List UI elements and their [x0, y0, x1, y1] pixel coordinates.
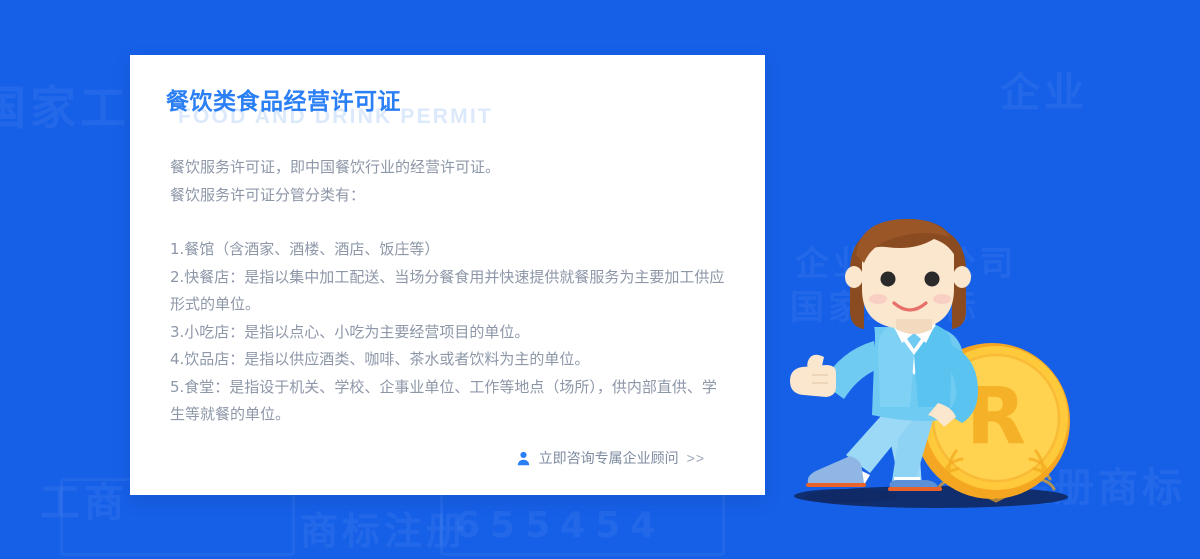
intro-line-1: 餐饮服务许可证，即中国餐饮行业的经营许可证。 [170, 154, 730, 182]
page-title: 餐饮类食品经营许可证 [166, 88, 765, 116]
watermark-text: 企业 [1000, 60, 1088, 118]
card-body: 餐饮服务许可证，即中国餐饮行业的经营许可证。 餐饮服务许可证分管分类有： 1.餐… [170, 154, 730, 429]
head [845, 219, 971, 334]
list-item: 3.小吃店：是指以点心、小吃为主要经营项目的单位。 [170, 319, 730, 347]
consult-label: 立即咨询专属企业顾问 [539, 448, 679, 468]
permit-category-list: 1.餐馆（含酒家、酒楼、酒店、饭庄等） 2.快餐店：是指以集中加工配送、当场分餐… [170, 236, 730, 429]
consult-advisor-link[interactable]: 立即咨询专属企业顾问 >> [516, 448, 705, 468]
list-item: 1.餐馆（含酒家、酒楼、酒店、饭庄等） [170, 236, 730, 264]
card-header: 餐饮类食品经营许可证 FOOD AND DRINK PERMIT [166, 88, 765, 134]
list-item: 4.饮品店：是指以供应酒类、咖啡、茶水或者饮料为主的单位。 [170, 346, 730, 374]
watermark-text: 655454 [455, 505, 665, 546]
user-icon [516, 451, 531, 466]
content-card: 餐饮类食品经营许可证 FOOD AND DRINK PERMIT 餐饮服务许可证… [130, 55, 765, 495]
chevron-right-icon: >> [687, 450, 705, 466]
shoe-back [888, 477, 942, 491]
thumbs-up-hand [790, 355, 836, 397]
watermark-text: 商标注册 [300, 500, 468, 555]
watermark-text: 工商 [40, 470, 128, 528]
list-item: 5.食堂：是指设于机关、学校、企事业单位、工作等地点（场所），供内部直供、学生等… [170, 374, 730, 429]
watermark-box [440, 492, 725, 556]
paragraph-spacer [170, 209, 730, 236]
list-item: 2.快餐店：是指以集中加工配送、当场分餐食用并快速提供就餐服务为主要加工供应形式… [170, 264, 730, 319]
illustration-businesswoman-coin: R [786, 215, 1076, 515]
intro-line-2: 餐饮服务许可证分管分类有： [170, 182, 730, 210]
